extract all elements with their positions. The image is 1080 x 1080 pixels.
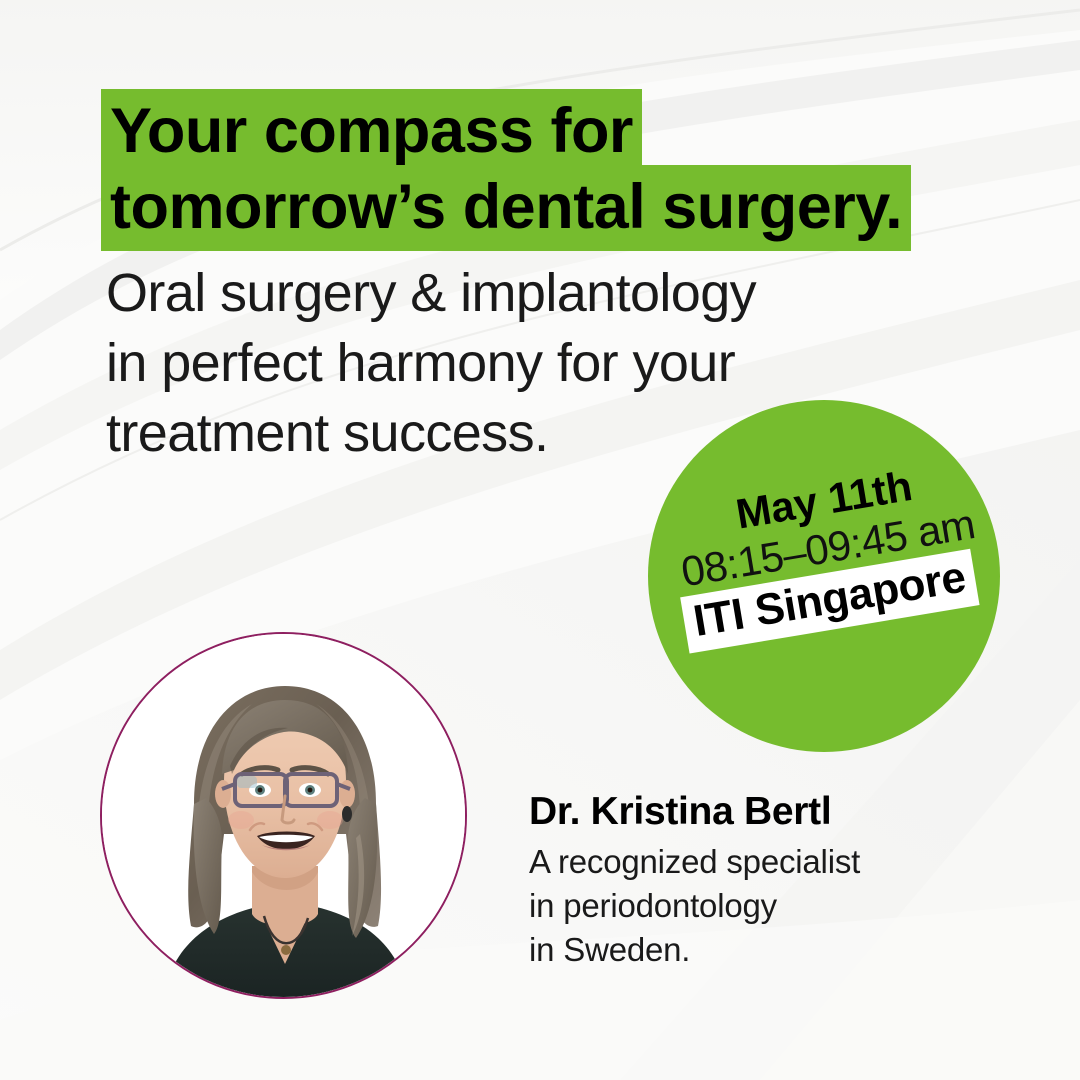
speaker-name: Dr. Kristina Bertl xyxy=(529,791,999,834)
speaker-bio: A recognized specialist in periodontolog… xyxy=(529,840,999,973)
speaker-details: Dr. Kristina Bertl A recognized speciali… xyxy=(529,791,999,973)
headline-line-2-text: tomorrow’s dental surgery. xyxy=(101,165,911,251)
speaker-bio-line-2: in periodontology xyxy=(529,884,999,928)
headline: Your compass for tomorrow’s dental surge… xyxy=(101,100,1021,252)
subheadline-line-1: Oral surgery & implantology xyxy=(106,258,866,328)
event-poster: Your compass for tomorrow’s dental surge… xyxy=(0,0,1080,1080)
speaker-portrait xyxy=(100,632,467,999)
headline-line-1: Your compass for xyxy=(101,100,1021,163)
event-date-text-stack: May 11th 08:15–09:45 am ITI Singapore xyxy=(638,450,1010,658)
event-date-badge: May 11th 08:15–09:45 am ITI Singapore xyxy=(648,400,1000,752)
headline-line-2: tomorrow’s dental surgery. xyxy=(101,176,1021,239)
subheadline-line-2: in perfect harmony for your xyxy=(106,328,866,398)
headline-line-1-text: Your compass for xyxy=(101,89,642,175)
speaker-bio-line-3: in Sweden. xyxy=(529,928,999,972)
speaker-bio-line-1: A recognized specialist xyxy=(529,840,999,884)
speaker-photo xyxy=(102,634,465,997)
